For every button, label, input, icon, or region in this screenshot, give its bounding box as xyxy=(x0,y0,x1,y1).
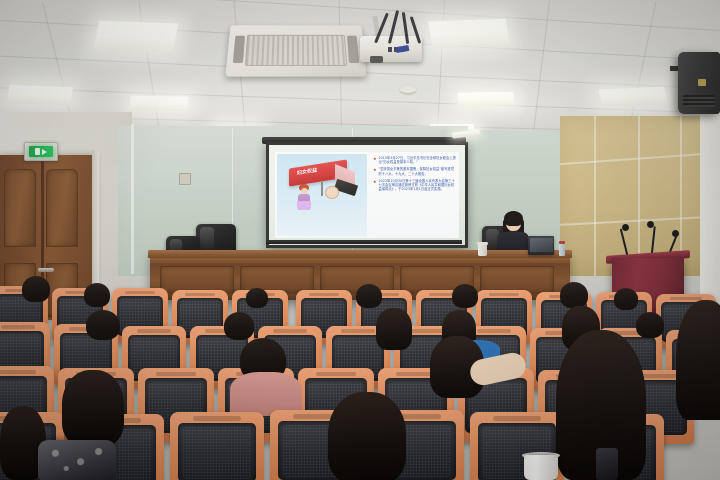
slide-bullet: ★ "坚持男女平等的基本国策，保障妇女权益"被写进党的十八大、十九大、二十大报告… xyxy=(373,167,456,175)
audience-head xyxy=(246,288,268,308)
slide-illustration: 妇女权益 xyxy=(277,154,367,236)
audience-head xyxy=(22,276,50,302)
projection-screen: 妇女权益 ★ 2015年9月27日，习近平总书记在全球妇女峰会上提出"妇女权益是… xyxy=(266,142,468,248)
audience-head xyxy=(636,312,664,338)
ceiling-light xyxy=(129,95,188,110)
emergency-exit-sign xyxy=(24,142,58,161)
cartoon-woman xyxy=(297,184,311,210)
bullet-marker: ★ xyxy=(373,179,377,192)
audience-head xyxy=(376,308,412,350)
audience-head xyxy=(328,392,406,480)
ceiling-light xyxy=(457,92,514,107)
audience-head xyxy=(560,282,588,308)
ac-vent xyxy=(347,36,359,63)
audience-head xyxy=(86,310,120,340)
presenter-hair xyxy=(504,211,523,226)
handbag xyxy=(38,440,116,480)
audience-head xyxy=(62,370,124,446)
projector-lens xyxy=(370,56,383,63)
tea-cup xyxy=(478,244,487,256)
smoke-detector xyxy=(400,86,416,93)
projector-port xyxy=(388,47,392,52)
ceiling-light xyxy=(428,19,510,48)
pole-shape xyxy=(321,182,323,196)
wall-switch[interactable] xyxy=(179,173,191,185)
tea-cup-lid xyxy=(477,242,488,245)
audience-head xyxy=(676,300,720,420)
laptop-screen xyxy=(530,238,553,253)
bullet-marker: ★ xyxy=(373,156,377,164)
auditorium-seat[interactable] xyxy=(170,412,264,480)
speaker-badge xyxy=(698,79,706,86)
right-wall-edge xyxy=(700,110,720,310)
projection-screen-bottom-bar xyxy=(266,240,462,244)
ceiling-light xyxy=(7,85,73,105)
running-man-icon xyxy=(35,148,40,155)
bullet-text: 2015年9月27日，习近平总书记在全球妇女峰会上提出"妇女权益是基本人权。" xyxy=(379,156,456,164)
handbag-pattern xyxy=(41,443,113,477)
smartphone[interactable] xyxy=(596,448,618,480)
microphone-head xyxy=(622,224,629,231)
ac-intake-grille xyxy=(245,35,347,66)
audience-head xyxy=(452,284,478,308)
wall-seam xyxy=(131,124,134,274)
ceiling-air-conditioner xyxy=(225,25,366,76)
paper-cup xyxy=(524,455,558,480)
laptop[interactable] xyxy=(528,236,554,255)
door-handle[interactable] xyxy=(38,268,54,272)
exit-sign-face xyxy=(29,146,53,157)
bullet-text: 2022年10月30日第十三届全国人民代表大会第三十七次会议审议通过新修订的《中… xyxy=(379,179,456,192)
presentation-slide: 妇女权益 ★ 2015年9月27日，习近平总书记在全球妇女峰会上提出"妇女权益是… xyxy=(275,152,459,238)
photo-scene: 妇女权益 ★ 2015年9月27日，习近平总书记在全球妇女峰会上提出"妇女权益是… xyxy=(0,0,720,480)
wall-mounted-loudspeaker xyxy=(678,52,720,114)
ac-vent xyxy=(233,36,245,63)
water-bottle-cap xyxy=(559,241,565,244)
arrow-icon xyxy=(42,149,47,155)
hand-shape xyxy=(325,186,339,199)
ceiling-light xyxy=(93,21,178,52)
audience-head xyxy=(84,283,110,307)
head-table-top xyxy=(148,250,572,258)
speaker-grille xyxy=(683,95,715,107)
microphone-head xyxy=(647,221,654,228)
ceiling-light xyxy=(599,87,668,106)
microphone-head xyxy=(672,230,679,237)
audience-head xyxy=(614,288,638,310)
bullet-marker: ★ xyxy=(373,167,377,175)
bullet-text: "坚持男女平等的基本国策，保障妇女权益"被写进党的十八大、十九大、二十大报告。 xyxy=(379,167,456,175)
slide-bullets: ★ 2015年9月27日，习近平总书记在全球妇女峰会上提出"妇女权益是基本人权。… xyxy=(369,152,459,238)
audience-head xyxy=(356,284,382,308)
slide-bullet: ★ 2022年10月30日第十三届全国人民代表大会第三十七次会议审议通过新修订的… xyxy=(373,179,456,192)
audience-head xyxy=(224,312,254,340)
slide-bullet: ★ 2015年9月27日，习近平总书记在全球妇女峰会上提出"妇女权益是基本人权。… xyxy=(373,156,456,164)
water-bottle xyxy=(559,243,565,256)
